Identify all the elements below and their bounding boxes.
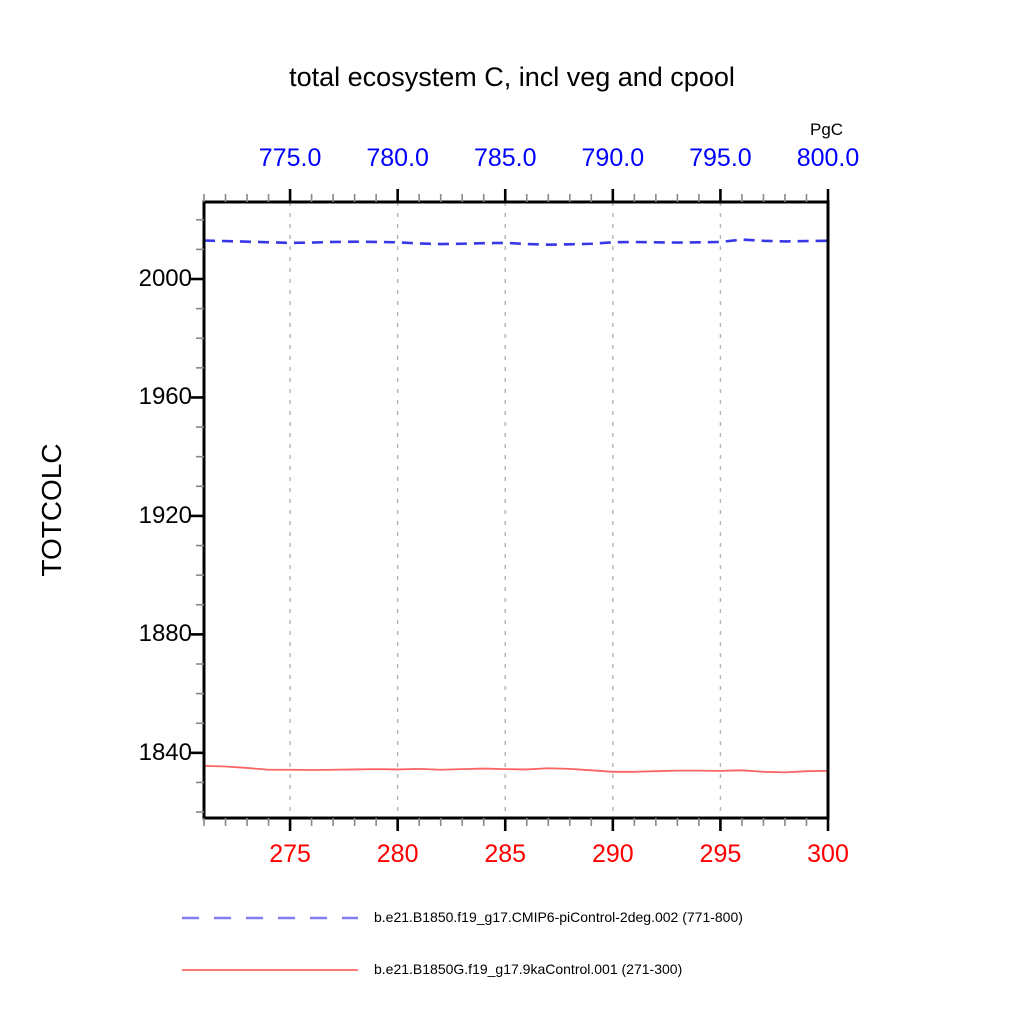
plot-canvas [0,0,1024,1024]
legend-label-2: b.e21.B1850G.f19_g17.9kaControl.001 (271… [374,961,682,977]
series-line-2 [204,766,828,773]
chart-page: total ecosystem C, incl veg and cpool Pg… [0,0,1024,1024]
series-line-1 [204,240,828,245]
plot-frame [204,202,828,818]
legend-label-1: b.e21.B1850.f19_g17.CMIP6-piControl-2deg… [374,909,743,925]
